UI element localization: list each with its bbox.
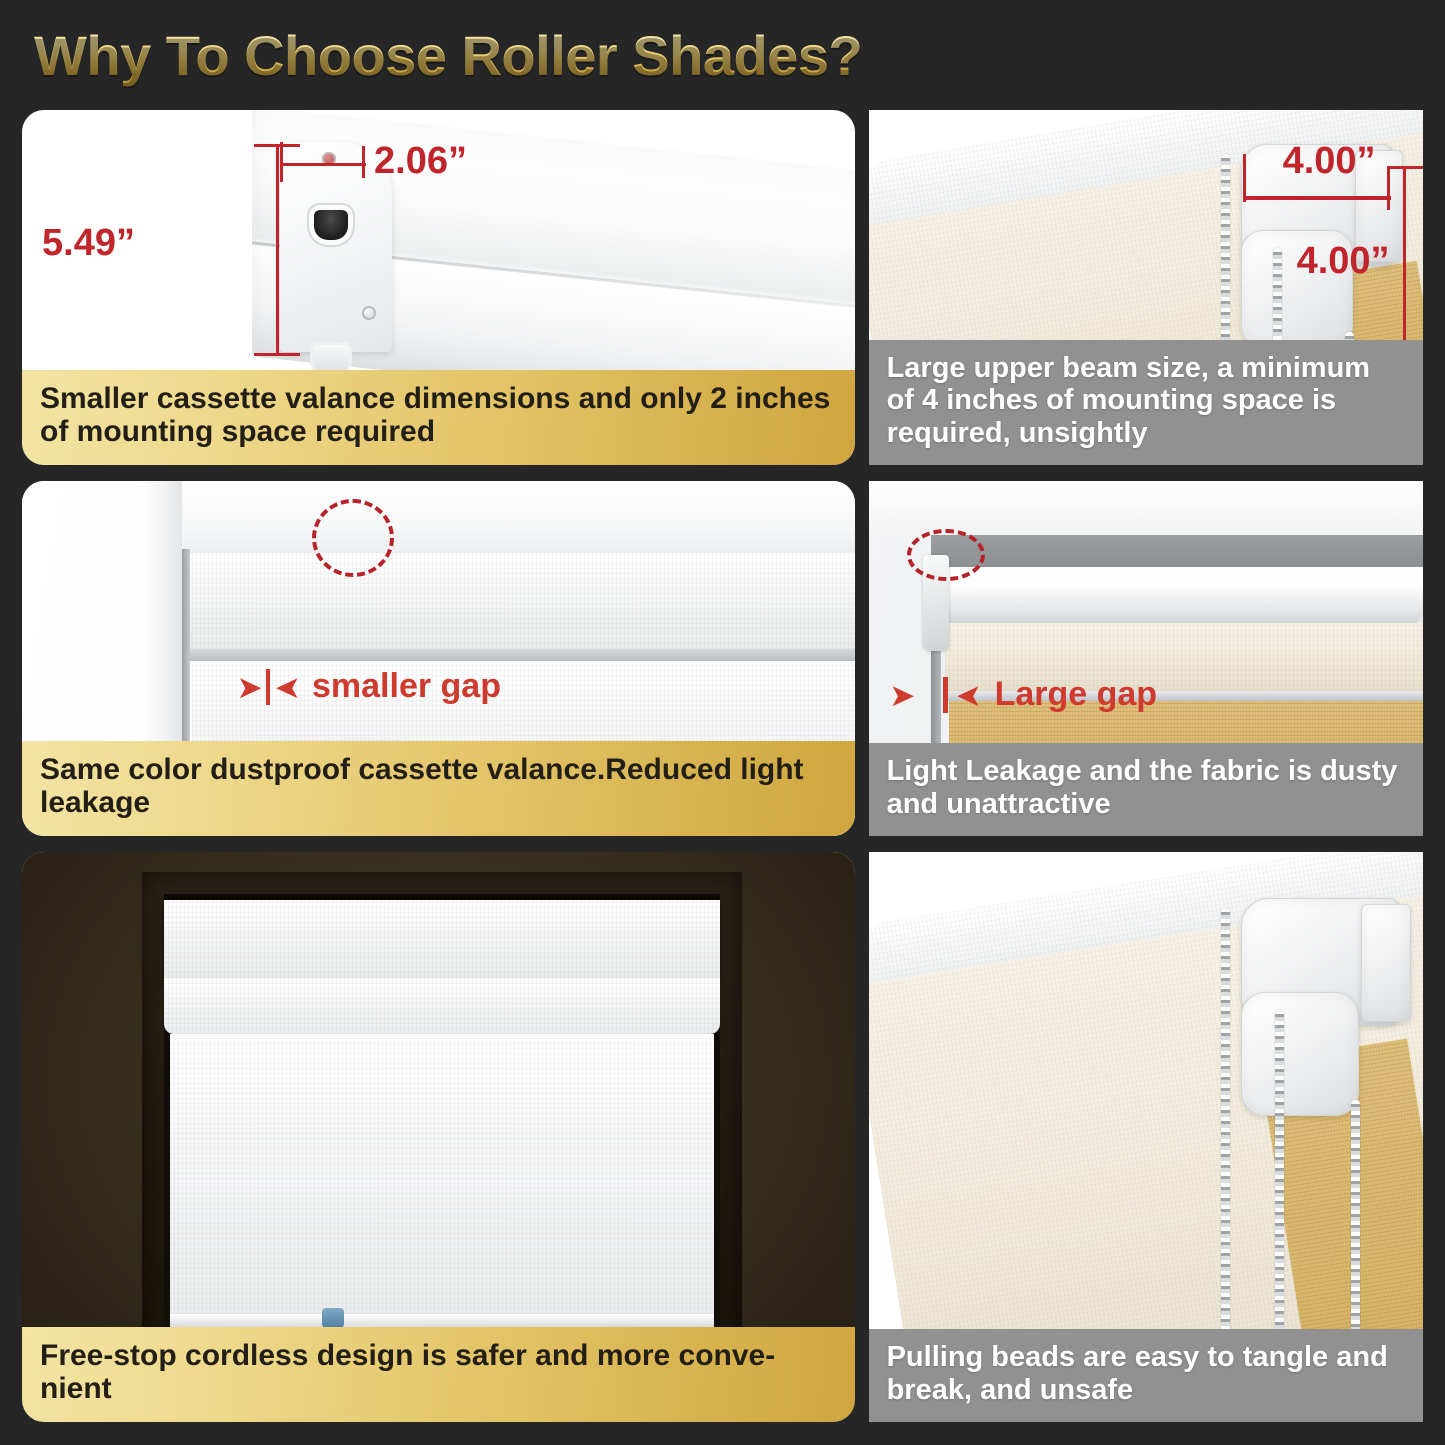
beam-width-tick-left [1243, 154, 1246, 202]
comparison-grid: 2.06” 5.49” Smaller cassette valance dim… [0, 110, 1445, 1422]
width-dimension-label: 2.06” [374, 140, 467, 183]
ceiling-surface [869, 481, 1423, 535]
gap-arrow-right-icon: ➤ [957, 679, 980, 712]
panel-caption: Large upper beam size, a minimum of 4 in… [869, 340, 1423, 465]
highlight-dashed-circle [907, 529, 985, 581]
hem-bar [170, 1314, 714, 1328]
height-dim-line [276, 144, 279, 356]
panel-caption: Light Leakage and the fabric is dusty an… [869, 743, 1423, 836]
gap-arrow-right-icon: ➤ [276, 671, 299, 704]
roller-tube [164, 978, 720, 1034]
gap-arrow-left-icon: ➤ [238, 671, 261, 704]
panel-caption: Free-stop cordless design is safer and m… [22, 1327, 855, 1422]
height-dimension-label: 5.49” [42, 222, 135, 265]
panel-dustproof-cassette-valance: ➤ ➤ smaller gap Same color dustproof cas… [22, 481, 855, 836]
page-header: Why To Choose Roller Shades? [0, 0, 1445, 110]
gap-label: Large gap [995, 675, 1157, 714]
comparison-row-3: Free-stop cordless design is safer and m… [10, 852, 1435, 1422]
beam-width-line [1243, 196, 1391, 200]
pull-tab [322, 1308, 344, 1328]
shade-fabric [170, 1034, 714, 1324]
height-dim-tick-bottom [254, 353, 300, 356]
gap-arrow-left-icon: ➤ [891, 679, 914, 712]
width-dim-line [280, 163, 366, 166]
width-dim-tick-left [280, 142, 283, 182]
valance-slot-shape [314, 210, 348, 240]
window-head-casing [182, 481, 855, 553]
lower-bracket-shape [1241, 992, 1359, 1116]
beam-width-tick-right [1387, 166, 1390, 210]
panel-free-stop-cordless: Free-stop cordless design is safer and m… [22, 852, 855, 1422]
beam-height-tick-top [1387, 166, 1423, 169]
panel-caption: Pulling beads are easy to tangle and bre… [869, 1329, 1423, 1422]
gap-marker-line [943, 677, 948, 713]
gap-marker-line [266, 669, 270, 705]
comparison-row-1: 2.06” 5.49” Smaller cassette valance dim… [10, 110, 1435, 465]
panel-caption: Smaller cassette valance dimensions and … [22, 370, 855, 465]
cassette-valance [188, 553, 855, 649]
highlight-dashed-circle [312, 499, 394, 577]
panel-pulling-beads: Pulling beads are easy to tangle and bre… [869, 852, 1423, 1422]
gap-label: smaller gap [312, 667, 501, 706]
height-dim-tick-top [254, 144, 300, 147]
endcap-screw-bottom-icon [362, 306, 376, 320]
roller-tube [939, 567, 1423, 625]
beam-height-line [1403, 166, 1406, 348]
cassette-valance [164, 900, 720, 978]
panel-caption: Same color dustproof cassette valance.Re… [22, 741, 855, 836]
width-dim-tick-right [362, 146, 365, 178]
bracket-mount-plate [1361, 904, 1411, 1022]
page-title: Why To Choose Roller Shades? [34, 23, 862, 88]
beam-width-label: 4.00” [1283, 140, 1376, 183]
comparison-row-2: ➤ ➤ smaller gap Same color dustproof cas… [10, 481, 1435, 836]
valance-bottom-rail [190, 649, 855, 661]
panel-large-upper-beam: 4.00” 4.00” Large upper beam size, a min… [869, 110, 1423, 465]
beam-height-label: 4.00” [1297, 240, 1390, 283]
panel-cassette-valance-dimensions: 2.06” 5.49” Smaller cassette valance dim… [22, 110, 855, 465]
panel-light-leakage: ➤ ➤ Large gap Light Leakage and the fabr… [869, 481, 1423, 836]
